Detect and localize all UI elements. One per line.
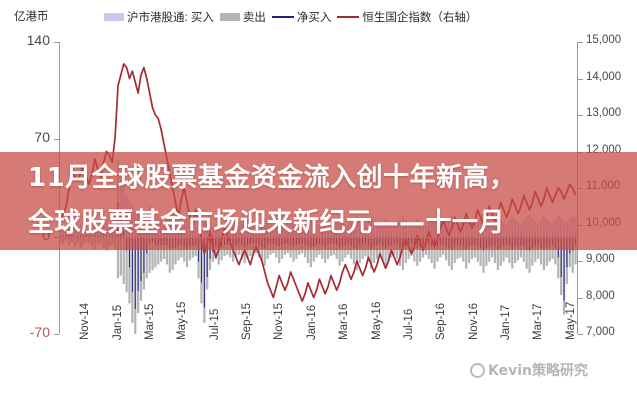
legend-item-buy: 沪市港股通: 买入	[104, 9, 214, 25]
x-tick-label: Jul-15	[209, 309, 221, 340]
legend-label-netbuy: 净买入	[297, 9, 332, 25]
right-tick-label: 13,000	[586, 107, 621, 119]
headline-line-1: 11月全球股票基金资金流入创十年新高，	[28, 155, 637, 202]
legend-item-netbuy: 净买入	[272, 9, 332, 25]
x-tick-label: Nov-16	[468, 303, 480, 340]
y-axis-unit-label: 亿港币	[14, 8, 49, 24]
circle-logo-icon	[470, 363, 485, 378]
chart-legend: 沪市港股通: 买入 卖出 净买入 恒生国企指数（右轴）	[104, 9, 477, 25]
headline-banner-text: 11月全球股票基金资金流入创十年新高， 全球股票基金市场迎来新纪元——十一月	[0, 152, 637, 250]
left-tick	[54, 139, 59, 140]
x-tick-label: Sep-15	[241, 303, 253, 340]
x-tick-label: Mar-17	[532, 304, 544, 340]
right-tick	[578, 79, 583, 80]
right-tick	[578, 42, 583, 43]
stock-connect-flow-chart: 亿港币 沪市港股通: 买入 卖出 净买入 恒生国企指数（右轴） 14	[0, 0, 637, 400]
x-tick-label: Mar-15	[144, 304, 156, 340]
right-tick	[578, 261, 583, 262]
right-tick	[578, 334, 583, 335]
right-tick-label: 14,000	[586, 71, 621, 83]
x-tick-label: Jan-15	[112, 305, 124, 340]
legend-item-sell: 卖出	[220, 9, 266, 25]
legend-item-hsce: 恒生国企指数（右轴）	[337, 9, 477, 25]
legend-label-sell: 卖出	[243, 9, 266, 25]
right-tick-label: 15,000	[586, 34, 621, 46]
legend-label-buy: 沪市港股通: 买入	[127, 9, 214, 25]
x-tick-label: Nov-15	[273, 303, 285, 340]
x-tick-label: May-17	[565, 302, 577, 340]
legend-swatch-buy	[104, 13, 124, 21]
x-tick-label: Jan-16	[306, 305, 318, 340]
right-tick-label: 8,000	[586, 290, 615, 302]
watermark: Kevin策略研究	[470, 360, 588, 380]
watermark-label: Kevin策略研究	[488, 360, 588, 380]
x-tick-label: Mar-16	[338, 304, 350, 340]
left-tick-label: -70	[6, 324, 50, 340]
right-tick-label: 7,000	[586, 326, 615, 338]
legend-line-netbuy	[272, 16, 294, 18]
x-tick-label: Jul-16	[403, 309, 415, 340]
x-tick-label: May-15	[176, 302, 188, 340]
x-tick-label: Nov-14	[79, 303, 91, 340]
left-tick-label: 140	[6, 32, 50, 48]
legend-line-hsce	[337, 16, 359, 18]
x-tick-label: Jan-17	[500, 305, 512, 340]
legend-label-hsce: 恒生国企指数（右轴）	[362, 9, 477, 25]
legend-swatch-sell	[220, 13, 240, 21]
right-tick	[578, 298, 583, 299]
headline-line-2: 全球股票基金市场迎来新纪元——十一月	[28, 200, 637, 247]
left-tick-label: 70	[6, 129, 50, 145]
left-tick	[54, 334, 59, 335]
left-tick	[54, 42, 59, 43]
x-tick-label: May-16	[371, 302, 383, 340]
right-tick	[578, 115, 583, 116]
right-tick-label: 9,000	[586, 253, 615, 265]
x-tick-label: Sep-16	[435, 303, 447, 340]
